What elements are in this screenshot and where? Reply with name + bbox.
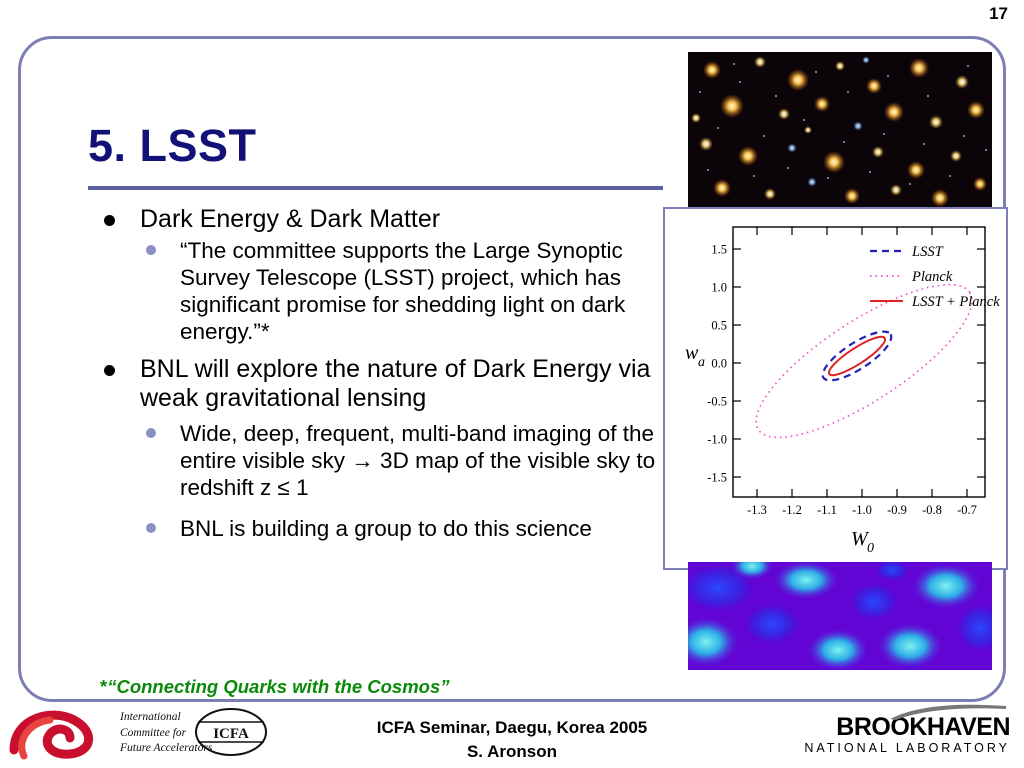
y-tick-label: 1.0 (711, 281, 727, 295)
page-number: 17 (989, 4, 1008, 24)
bnl-swoosh-icon (888, 703, 1008, 721)
bullet-dot-icon (104, 365, 115, 376)
sub-bullet-dot-icon (146, 245, 156, 255)
brookhaven-logo: BROOKHAVEN NATIONAL LABORATORY (804, 715, 1010, 755)
y-tick-label: -1.0 (707, 433, 727, 447)
bullet-text: BNL is building a group to do this scien… (180, 516, 592, 541)
x-tick-label: -0.7 (957, 503, 977, 517)
bullet-dot-icon (104, 215, 115, 226)
y-tick-label: 1.5 (711, 243, 727, 257)
y-axis-label-sub: a (698, 355, 705, 370)
x-tick-label: -1.0 (852, 503, 872, 517)
icfa-acronym-badge: ICFA (194, 706, 269, 758)
x-tick-label: -1.1 (817, 503, 837, 517)
bnl-subtitle: NATIONAL LABORATORY (804, 742, 1010, 755)
legend-label-planck: Planck (911, 269, 953, 285)
bullet-list: Dark Energy & Dark Matter “The committee… (96, 205, 671, 544)
y-tick-label: 0.5 (711, 319, 727, 333)
icfa-acronym: ICFA (213, 726, 249, 742)
legend-label-lsst: LSST (911, 244, 944, 260)
x-tick-label: -1.3 (747, 503, 767, 517)
title-underline (88, 186, 663, 190)
bullet-item-2: “The committee supports the Large Synopt… (96, 237, 671, 345)
dark-energy-constraints-chart: 1.5 1.0 0.5 0.0 -0.5 -1.0 -1.5 (663, 207, 1008, 570)
bullet-text: BNL will explore the nature of Dark Ener… (140, 355, 650, 413)
bullet-item-1: Dark Energy & Dark Matter (96, 205, 671, 235)
y-tick-label: -1.5 (707, 471, 727, 485)
x-tick-label: -0.9 (887, 503, 907, 517)
footnote-text: “Connecting Quarks with the Cosmos” (107, 676, 449, 697)
footnote: *“Connecting Quarks with the Cosmos” (100, 676, 450, 698)
icfa-spiral-icon (8, 706, 116, 762)
y-axis-label: w (685, 342, 699, 364)
bullet-item-4: Wide, deep, frequent, multi-band imaging… (96, 420, 671, 501)
bullet-item-3: BNL will explore the nature of Dark Ener… (96, 355, 671, 414)
x-tick-label: -1.2 (782, 503, 802, 517)
y-tick-label: 0.0 (711, 357, 727, 371)
sub-bullet-dot-icon (146, 428, 156, 438)
legend-label-lsst-planck: LSST + Planck (911, 294, 1000, 310)
bullet-item-5: BNL is building a group to do this scien… (96, 515, 671, 542)
sub-bullet-dot-icon (146, 523, 156, 533)
page-title: 5. LSST (88, 120, 257, 172)
weak-lensing-map-image (688, 562, 992, 670)
bullet-text: “The committee supports the Large Synopt… (180, 238, 625, 344)
y-tick-label: -0.5 (707, 395, 727, 409)
x-tick-label: -0.8 (922, 503, 942, 517)
chart-svg: 1.5 1.0 0.5 0.0 -0.5 -1.0 -1.5 (665, 209, 1006, 568)
slide: 17 5. LSST Dark Energy & Dark Matter “Th… (0, 0, 1024, 768)
bullet-text: Dark Energy & Dark Matter (140, 205, 440, 233)
bullet-text: Wide, deep, frequent, multi-band imaging… (180, 421, 655, 500)
x-axis-label-sub: 0 (867, 541, 874, 556)
sky-survey-image (688, 52, 992, 207)
icfa-logo: International Committee for Future Accel… (8, 704, 278, 762)
